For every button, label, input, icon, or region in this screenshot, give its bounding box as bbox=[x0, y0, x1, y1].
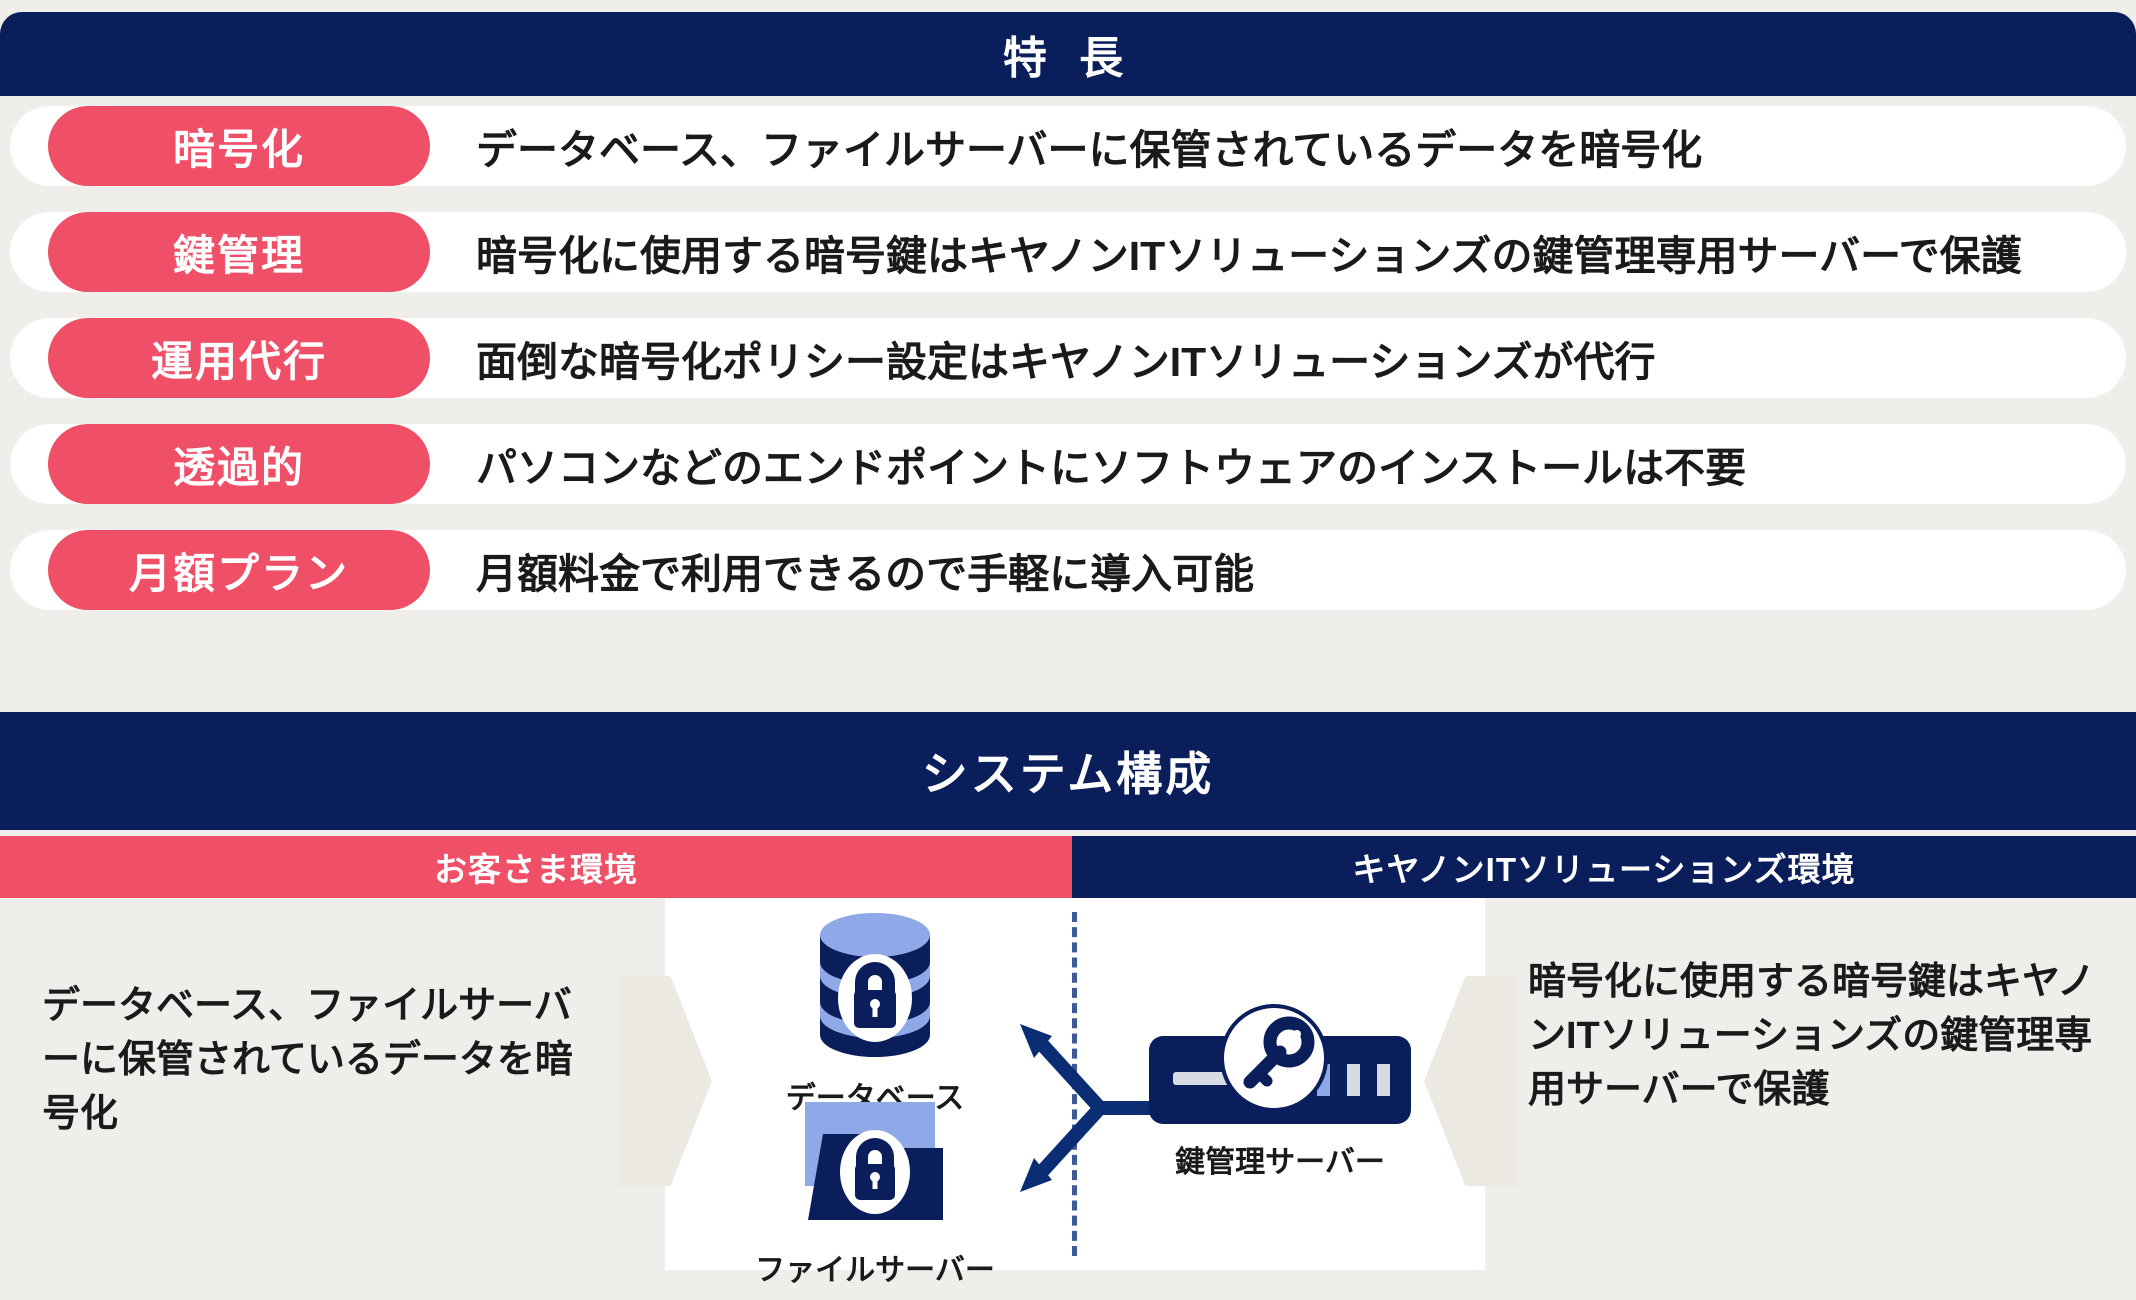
feature-pill-encryption[interactable]: 暗号化 bbox=[48, 106, 430, 186]
system-diagram: データベース、ファイルサーバーに保管されているデータを暗号化 暗号化に使用する暗… bbox=[0, 898, 2136, 1300]
feature-text-transparent: パソコンなどのエンドポイントにソフトウェアのインストールは不要 bbox=[476, 434, 1746, 494]
file-server-icon bbox=[793, 1094, 958, 1234]
feature-text-monthly-plan: 月額料金で利用できるので手軽に導入可能 bbox=[476, 540, 1254, 600]
feature-row[interactable]: 透過的 パソコンなどのエンドポイントにソフトウェアのインストールは不要 bbox=[10, 424, 2126, 504]
system-title: システム構成 bbox=[922, 738, 1215, 804]
environment-label-customer: お客さま環境 bbox=[434, 843, 638, 891]
diagram-right-description: 暗号化に使用する暗号鍵はキヤノンITソリューションズの鍵管理専用サーバーで保護 bbox=[1528, 956, 2108, 1118]
feature-row[interactable]: 運用代行 面倒な暗号化ポリシー設定はキヤノンITソリューションズが代行 bbox=[10, 318, 2126, 398]
key-management-server-icon bbox=[1149, 1002, 1411, 1126]
feature-text-key-management: 暗号化に使用する暗号鍵はキヤノンITソリューションズの鍵管理専用サーバーで保護 bbox=[476, 222, 2022, 282]
file-server-caption: ファイルサーバー bbox=[745, 1245, 1005, 1289]
feature-pill-key-management[interactable]: 鍵管理 bbox=[48, 212, 430, 292]
feature-row[interactable]: 鍵管理 暗号化に使用する暗号鍵はキヤノンITソリューションズの鍵管理専用サーバー… bbox=[10, 212, 2126, 292]
features-title: 特 長 bbox=[1003, 22, 1133, 86]
environment-bar-customer: お客さま環境 bbox=[0, 836, 1072, 898]
system-configuration-card: システム構成 お客さま環境 キヤノンITソリューションズ環境 データベース、ファ… bbox=[0, 712, 2136, 1300]
system-header: システム構成 bbox=[0, 712, 2136, 830]
key-management-server-caption: 鍵管理サーバー bbox=[1120, 1137, 1440, 1181]
feature-row[interactable]: 暗号化 データベース、ファイルサーバーに保管されているデータを暗号化 bbox=[10, 106, 2126, 186]
database-icon bbox=[800, 910, 950, 1062]
feature-row[interactable]: 月額プラン 月額料金で利用できるので手軽に導入可能 bbox=[10, 530, 2126, 610]
feature-pill-monthly-plan[interactable]: 月額プラン bbox=[48, 530, 430, 610]
diagram-left-description: データベース、ファイルサーバーに保管されているデータを暗号化 bbox=[42, 980, 602, 1142]
features-list: 暗号化 データベース、ファイルサーバーに保管されているデータを暗号化 鍵管理 暗… bbox=[0, 96, 2136, 656]
feature-text-encryption: データベース、ファイルサーバーに保管されているデータを暗号化 bbox=[476, 116, 1702, 176]
database-node: データベース bbox=[745, 910, 1005, 1117]
feature-pill-transparent[interactable]: 透過的 bbox=[48, 424, 430, 504]
environment-label-canon: キヤノンITソリューションズ環境 bbox=[1352, 843, 1855, 891]
environment-bar-canon: キヤノンITソリューションズ環境 bbox=[1072, 836, 2136, 898]
key-management-server-node: 鍵管理サーバー bbox=[1120, 1002, 1440, 1181]
feature-pill-operation-agency[interactable]: 運用代行 bbox=[48, 318, 430, 398]
features-card: 特 長 暗号化 データベース、ファイルサーバーに保管されているデータを暗号化 鍵… bbox=[0, 0, 2136, 665]
feature-text-operation-agency: 面倒な暗号化ポリシー設定はキヤノンITソリューションズが代行 bbox=[476, 328, 1656, 388]
features-header: 特 長 bbox=[0, 12, 2136, 96]
file-server-node: ファイルサーバー bbox=[745, 1094, 1005, 1289]
